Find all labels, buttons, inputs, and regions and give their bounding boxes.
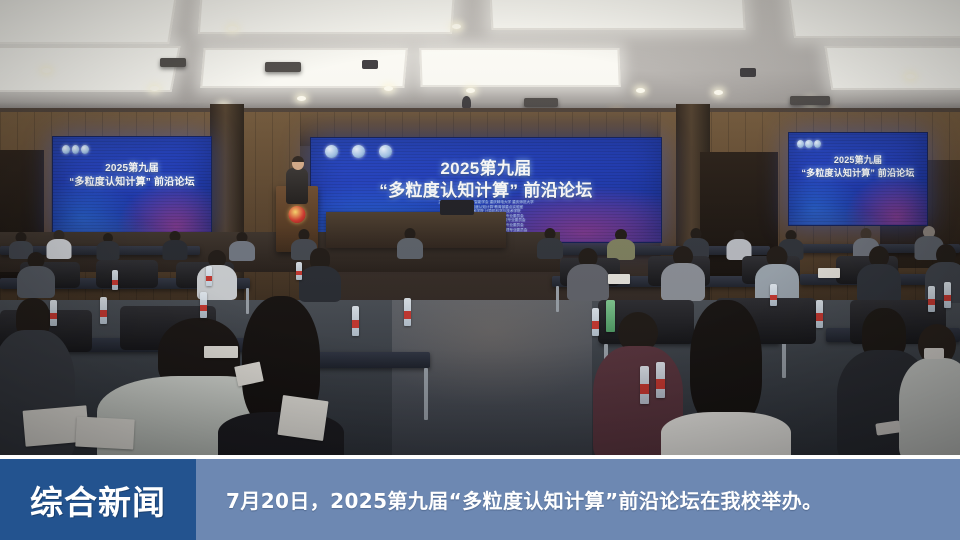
- audience-torso: [397, 238, 423, 259]
- ceiling-light-panel: [419, 48, 620, 87]
- side-screen-left-subtext: ​: [53, 193, 211, 197]
- headline-text: 7月20日，2025第九届“多粒度认知计算”前沿论坛在我校举办。: [196, 485, 823, 514]
- led-screen-right: 2025第九届 “多粒度认知计算” 前沿论坛: [788, 132, 928, 226]
- recessed-downlight: [150, 86, 159, 91]
- water-bottle: [352, 306, 359, 336]
- organizer-logo-1-icon: [62, 145, 70, 154]
- desk-leg: [556, 286, 559, 312]
- audience-member: [396, 228, 423, 258]
- audience-torso: [567, 264, 609, 301]
- led-screen-left: 2025第九届 “多粒度认知计算” 前沿论坛 ​: [52, 136, 212, 236]
- stage-monitor: [440, 200, 474, 215]
- audience-member: [162, 231, 188, 259]
- recessed-downlight: [384, 86, 393, 91]
- speaker-person: [286, 168, 308, 204]
- organizer-logo-2-icon: [72, 145, 80, 154]
- water-bottle: [206, 266, 212, 286]
- audience-member: [898, 324, 960, 455]
- audience-member: [660, 300, 792, 455]
- audience-torso: [661, 263, 705, 301]
- caption-bar: 综合新闻 7月20日，2025第九届“多粒度认知计算”前沿论坛在我校举办。: [0, 459, 960, 540]
- audience-member: [566, 248, 610, 300]
- ceiling-light-panel: [488, 0, 745, 30]
- category-kicker-block[interactable]: 综合新闻: [0, 459, 196, 540]
- ceiling-projector: [160, 58, 186, 67]
- category-kicker-label: 综合新闻: [30, 476, 166, 524]
- audience-torso: [661, 412, 791, 455]
- document-sheet: [608, 274, 630, 284]
- water-bottle: [944, 282, 951, 308]
- water-bottle: [100, 297, 107, 324]
- speaker-hair: [292, 156, 304, 162]
- smartphone: [924, 348, 944, 359]
- water-bottle: [296, 262, 302, 280]
- water-bottle: [770, 284, 777, 306]
- audience-member: [606, 229, 635, 259]
- audience-chair: [96, 260, 158, 288]
- audience-member: [754, 246, 800, 302]
- news-photo-card: 2025第九届 “多粒度认知计算” 前沿论坛 ​ 2025第九届 “多粒度认知计…: [0, 0, 960, 540]
- recessed-downlight: [466, 88, 475, 93]
- audience-torso: [899, 358, 960, 455]
- water-bottle: [50, 300, 57, 326]
- audience-member: [196, 250, 238, 298]
- audience-torso: [857, 264, 901, 303]
- audience-torso: [607, 239, 635, 260]
- water-bottle: [404, 298, 411, 326]
- document-sheet: [277, 395, 328, 441]
- water-bottle: [592, 308, 599, 336]
- audience-member: [298, 248, 342, 300]
- audience-head: [690, 300, 762, 426]
- audience-member: [726, 230, 752, 259]
- audience-member: [856, 246, 902, 302]
- document-sheet: [75, 417, 134, 450]
- ceiling-light-panel: [825, 46, 960, 90]
- recessed-downlight: [906, 74, 915, 79]
- recessed-downlight: [636, 88, 645, 93]
- organizer-logo-3-icon: [81, 145, 89, 154]
- thermos-bottle: [606, 300, 615, 332]
- organizer-logo-1-icon: [797, 140, 804, 148]
- screen-subline: ​: [53, 193, 211, 197]
- side-screen-right-title-line2: “多粒度认知计算” 前沿论坛: [789, 166, 927, 179]
- recessed-downlight: [714, 90, 723, 95]
- organizer-logo-3-icon: [814, 140, 821, 148]
- side-screen-right-title-line1: 2025第九届: [789, 153, 927, 166]
- desk-leg: [424, 368, 428, 420]
- audience-member: [536, 228, 563, 258]
- center-aisle: [392, 300, 592, 455]
- ceiling-projector: [524, 98, 558, 107]
- side-screen-left-title-line1: 2025第九届: [53, 159, 211, 174]
- headline-block: 7月20日，2025第九届“多粒度认知计算”前沿论坛在我校举办。: [196, 459, 960, 540]
- recessed-downlight: [452, 24, 461, 29]
- audience-torso: [537, 238, 563, 259]
- screen-logo-row: [62, 145, 89, 154]
- recessed-downlight: [42, 68, 51, 73]
- water-bottle: [816, 300, 823, 328]
- organizer-logo-2-icon: [805, 140, 812, 148]
- water-bottle: [200, 292, 207, 318]
- audience-member: [16, 252, 56, 296]
- recessed-downlight: [297, 96, 306, 101]
- water-bottle: [928, 286, 935, 312]
- side-screen-left-title-line2: “多粒度认知计算” 前沿论坛: [53, 173, 211, 188]
- ceiling-projector: [790, 96, 830, 105]
- ceiling-speaker-unit: [740, 68, 756, 77]
- audience-member: [96, 233, 120, 259]
- document-sheet: [204, 346, 238, 358]
- ceiling-light-panel: [0, 0, 179, 44]
- water-bottle: [640, 366, 649, 404]
- screen-logo-row: [797, 140, 821, 148]
- audience-member: [660, 246, 706, 300]
- water-bottle: [112, 270, 118, 290]
- recessed-downlight: [228, 26, 237, 31]
- document-sheet: [818, 268, 840, 278]
- main-screen-title-line2: “多粒度认知计算” 前沿论坛: [311, 176, 661, 201]
- water-bottle: [656, 362, 665, 398]
- ceiling-light-panel: [786, 0, 960, 38]
- ceiling-speaker-unit: [362, 60, 378, 69]
- audience-torso: [17, 266, 55, 298]
- audience-torso: [97, 241, 120, 260]
- audience-torso: [163, 240, 188, 260]
- ceiling-projector: [265, 62, 301, 72]
- conference-photograph: 2025第九届 “多粒度认知计算” 前沿论坛 ​ 2025第九届 “多粒度认知计…: [0, 0, 960, 455]
- podium-emblem-icon: [289, 206, 306, 223]
